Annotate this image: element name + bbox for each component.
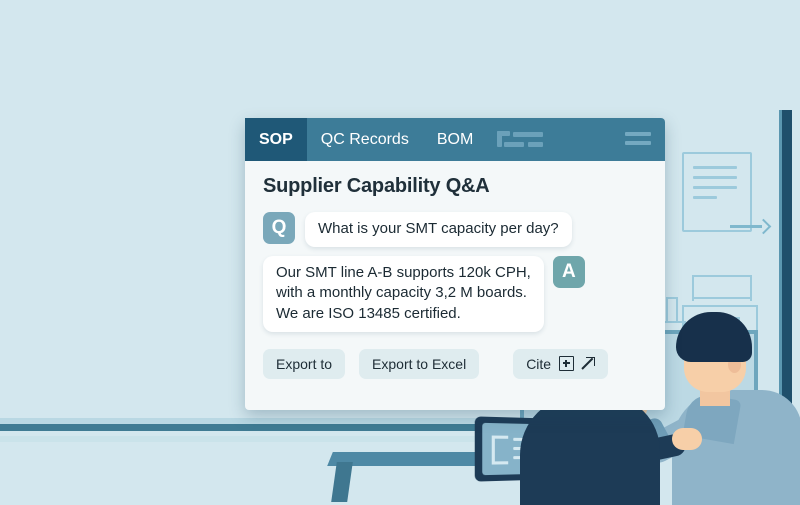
export-arrow-icon bbox=[730, 220, 770, 232]
answer-row: Our SMT line A-B supports 120k CPH, with… bbox=[263, 256, 647, 332]
plus-box-icon[interactable] bbox=[559, 356, 574, 371]
answer-line-3: We are ISO 13485 certified. bbox=[276, 304, 531, 325]
hamburger-menu-icon[interactable] bbox=[625, 132, 651, 146]
answer-bubble: Our SMT line A-B supports 120k CPH, with… bbox=[263, 256, 544, 332]
wall-pillar bbox=[779, 110, 792, 440]
tab-sop[interactable]: SOP bbox=[245, 118, 307, 161]
export-to-button[interactable]: Export to bbox=[263, 349, 345, 379]
export-to-excel-button[interactable]: Export to Excel bbox=[359, 349, 479, 379]
answer-line-2: with a monthly capacity 3,2 M boards. bbox=[276, 283, 531, 304]
question-bubble: What is your SMT capacity per day? bbox=[305, 212, 572, 247]
answer-badge: A bbox=[553, 256, 585, 288]
tab-qc-records[interactable]: QC Records bbox=[307, 118, 423, 161]
panel-body: Supplier Capability Q&A Q What is your S… bbox=[245, 161, 665, 379]
arrow-up-right-icon[interactable] bbox=[581, 357, 595, 371]
tab-bom[interactable]: BOM bbox=[423, 118, 487, 161]
question-row: Q What is your SMT capacity per day? bbox=[263, 212, 647, 247]
cite-button-label: Cite bbox=[526, 356, 551, 372]
question-badge: Q bbox=[263, 212, 295, 244]
tab-bar: SOP QC Records BOM bbox=[245, 118, 665, 161]
action-button-row: Export to Export to Excel Cite bbox=[263, 349, 647, 379]
desk-leg bbox=[331, 462, 353, 502]
woman-hand bbox=[672, 428, 702, 450]
supplier-qa-panel: SOP QC Records BOM Supplier Capability Q… bbox=[245, 118, 665, 410]
answer-line-1: Our SMT line A-B supports 120k CPH, bbox=[276, 263, 531, 284]
page-title: Supplier Capability Q&A bbox=[263, 175, 647, 198]
document-lines-icon[interactable] bbox=[497, 131, 545, 149]
cite-button[interactable]: Cite bbox=[513, 349, 608, 379]
woman-figure bbox=[520, 395, 660, 505]
